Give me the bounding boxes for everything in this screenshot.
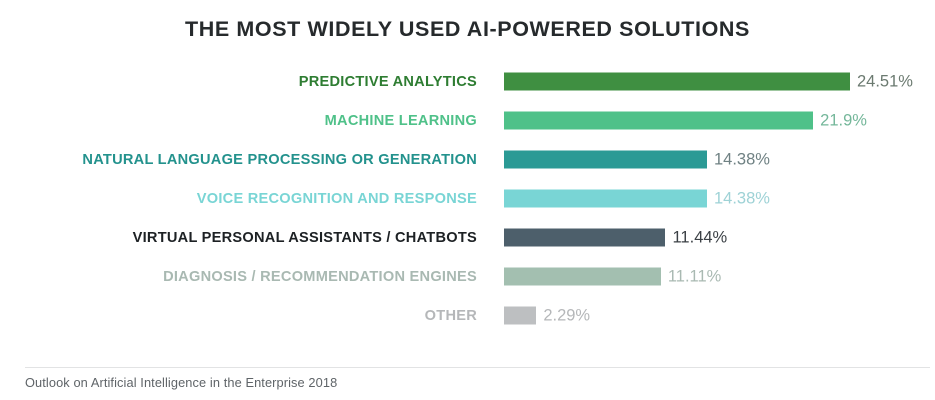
bar-value-label: 24.51% [857,72,913,91]
chart-source-caption: Outlook on Artificial Intelligence in th… [25,375,337,390]
bar-track: 11.44% [504,228,727,247]
footer-divider [25,367,930,368]
bar-value-label: 2.29% [543,306,590,325]
bar-category-label: VIRTUAL PERSONAL ASSISTANTS / CHATBOTS [17,230,477,246]
bar-track: 14.38% [504,189,770,208]
chart-container: THE MOST WIDELY USED AI-POWERED SOLUTION… [0,0,935,400]
bar-fill [504,112,813,130]
bar-row: NATURAL LANGUAGE PROCESSING OR GENERATIO… [0,140,935,179]
bar-row: OTHER 2.29% [0,296,935,335]
bar-row: VOICE RECOGNITION AND RESPONSE 14.38% [0,179,935,218]
bar-value-label: 11.11% [668,267,722,286]
bar-category-label: DIAGNOSIS / RECOMMENDATION ENGINES [17,269,477,285]
bar-category-label: VOICE RECOGNITION AND RESPONSE [17,191,477,207]
chart-title: THE MOST WIDELY USED AI-POWERED SOLUTION… [0,0,935,42]
bar-value-label: 21.9% [820,111,867,130]
bar-fill [504,190,707,208]
bar-chart-plot-area: PREDICTIVE ANALYTICS 24.51% MACHINE LEAR… [0,62,935,335]
bar-track: 14.38% [504,150,770,169]
bar-fill [504,268,661,286]
bar-category-label: MACHINE LEARNING [17,113,477,129]
bar-category-label: PREDICTIVE ANALYTICS [17,74,477,90]
bar-track: 24.51% [504,72,913,91]
bar-row: VIRTUAL PERSONAL ASSISTANTS / CHATBOTS 1… [0,218,935,257]
bar-track: 21.9% [504,111,867,130]
bar-fill [504,151,707,169]
bar-value-label: 11.44% [672,228,727,247]
bar-category-label: OTHER [17,308,477,324]
bar-row: MACHINE LEARNING 21.9% [0,101,935,140]
bar-value-label: 14.38% [714,189,770,208]
bar-track: 11.11% [504,267,721,286]
bar-row: DIAGNOSIS / RECOMMENDATION ENGINES 11.11… [0,257,935,296]
bar-value-label: 14.38% [714,150,770,169]
bar-track: 2.29% [504,306,590,325]
bar-category-label: NATURAL LANGUAGE PROCESSING OR GENERATIO… [17,152,477,168]
bar-fill [504,73,850,91]
bar-fill [504,229,665,247]
bar-fill [504,307,536,325]
bar-row: PREDICTIVE ANALYTICS 24.51% [0,62,935,101]
